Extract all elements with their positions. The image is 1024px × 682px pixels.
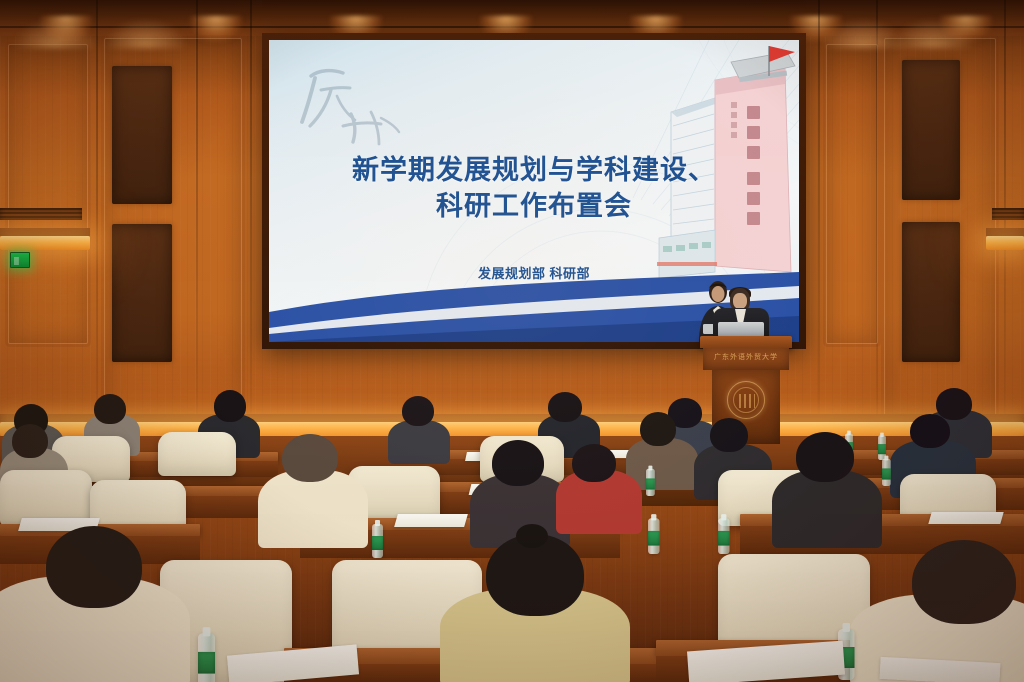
water-bottle [646,469,655,496]
audience-head [572,444,616,482]
audience-head [402,396,434,426]
cove-light-lip [0,414,1024,422]
wall-bay-divider [1004,0,1006,440]
wall-uplight-glow [102,18,188,48]
conference-hall-photo: 新学期发展规划与学科建设、 科研工作布置会 发展规划部 科研部 2024年3月 … [0,0,1024,682]
chair [158,432,236,476]
water-bottle [882,459,891,486]
audience-head [910,414,950,448]
paper-document [394,514,468,527]
wall-panel [826,44,878,344]
water-bottle [718,518,730,554]
audience-head-foreground [912,540,1016,624]
air-vent-grille [992,208,1024,220]
acoustic-panel [112,224,172,362]
acoustic-panel [902,60,960,200]
water-bottle [198,633,215,682]
projection-screen: 新学期发展规划与学科建设、 科研工作布置会 发展规划部 科研部 2024年3月 … [269,40,799,342]
cove-light-strip [986,236,1024,250]
water-bottle [648,518,660,554]
audience-head [94,394,126,424]
guangwai-watermark-icon [293,60,403,150]
wall-panel [8,44,88,344]
audience-head [640,412,676,446]
acoustic-panel [112,66,172,204]
cove-light-lip [986,228,1024,236]
projection-screen-frame: 新学期发展规划与学科建设、 科研工作布置会 发展规划部 科研部 2024年3月 … [262,33,806,349]
wall-bay-divider [818,0,820,440]
university-emblem-icon [727,381,765,419]
audience-head [548,392,582,422]
wall-bay-divider [96,0,98,440]
presenter-face [733,293,747,309]
slide-title: 新学期发展规划与学科建设、 科研工作布置会 [269,152,799,224]
hair-bun [516,524,548,548]
cove-light-strip [0,236,90,250]
wall-uplight-glow [820,18,906,48]
audience-head [12,424,48,458]
audience-head [796,432,854,482]
audience-head [710,418,748,452]
audience-person [388,420,450,464]
audience-head [492,440,544,486]
wall-uplight-glow [12,18,98,48]
air-vent-grille [0,208,82,220]
audience-head [282,434,338,482]
audience-head [936,388,972,420]
exit-sign [10,252,30,268]
slide-title-line-2: 科研工作布置会 [269,188,799,224]
acoustic-panel [902,222,960,362]
audience-head [214,390,246,422]
audience-head-foreground [46,526,142,608]
slide-title-line-1: 新学期发展规划与学科建设、 [352,155,716,185]
paper-document [928,512,1003,524]
wall-bay-divider [250,0,252,440]
podium-top [700,336,792,348]
cove-light-strip-main [0,422,1024,436]
podium-inscription: 广东外语外贸大学 [706,351,786,364]
cove-light-lip [0,228,90,236]
presenter-laptop [718,322,764,337]
water-bottle [372,524,383,558]
